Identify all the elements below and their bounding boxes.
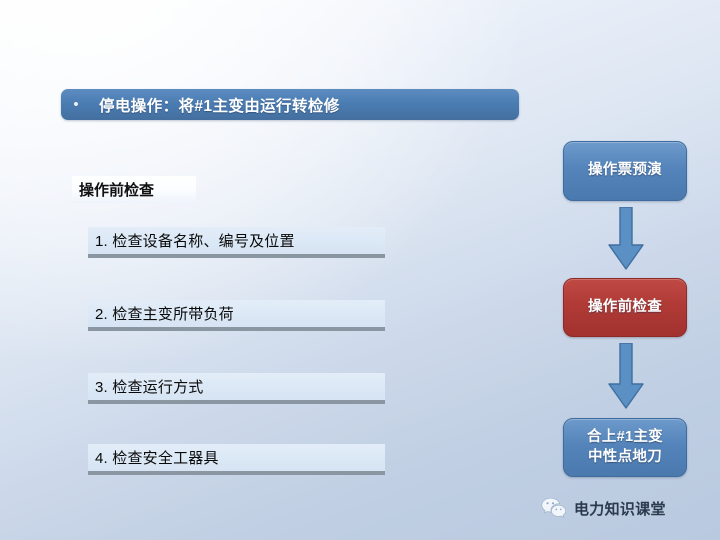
flow-step-pre-operation-check: 操作前检查	[563, 278, 687, 337]
watermark-label: 电力知识课堂	[574, 498, 666, 519]
list-item-label: 2. 检查主变所带负荷	[95, 303, 234, 324]
flow-step-label: 操作前检查	[588, 298, 662, 318]
flow-step-close-neutral-grounding-switch: 合上#1主变 中性点地刀	[563, 418, 687, 477]
wechat-icon	[541, 497, 567, 519]
flow-arrow-down-icon	[607, 207, 645, 273]
section-header: 操作前检查	[72, 176, 196, 203]
flow-arrow-down-icon	[607, 343, 645, 412]
page-title: 停电操作：将#1主变由运行转检修	[99, 94, 340, 116]
flow-step-operation-ticket-rehearsal: 操作票预演	[563, 141, 687, 201]
list-item-label: 1. 检查设备名称、编号及位置	[95, 230, 295, 251]
list-item-label: 4. 检查安全工器具	[95, 447, 219, 468]
section-header-label: 操作前检查	[79, 179, 154, 200]
flow-step-label: 操作票预演	[588, 161, 662, 181]
flow-step-label-line1: 合上#1主变	[587, 429, 663, 445]
list-item-label: 3. 检查运行方式	[95, 376, 203, 397]
list-item: 3. 检查运行方式	[88, 373, 385, 404]
flow-step-label-line2: 中性点地刀	[588, 449, 662, 465]
bullet-icon: •	[69, 97, 83, 112]
list-item: 1. 检查设备名称、编号及位置	[88, 227, 385, 258]
flow-step-label: 合上#1主变 中性点地刀	[587, 428, 663, 467]
slide-title-banner: • 停电操作：将#1主变由运行转检修	[61, 89, 519, 120]
list-item: 4. 检查安全工器具	[88, 444, 385, 475]
watermark: 电力知识课堂	[541, 497, 666, 519]
slide-canvas: • 停电操作：将#1主变由运行转检修 操作前检查 1. 检查设备名称、编号及位置…	[0, 0, 720, 540]
list-item: 2. 检查主变所带负荷	[88, 300, 385, 331]
